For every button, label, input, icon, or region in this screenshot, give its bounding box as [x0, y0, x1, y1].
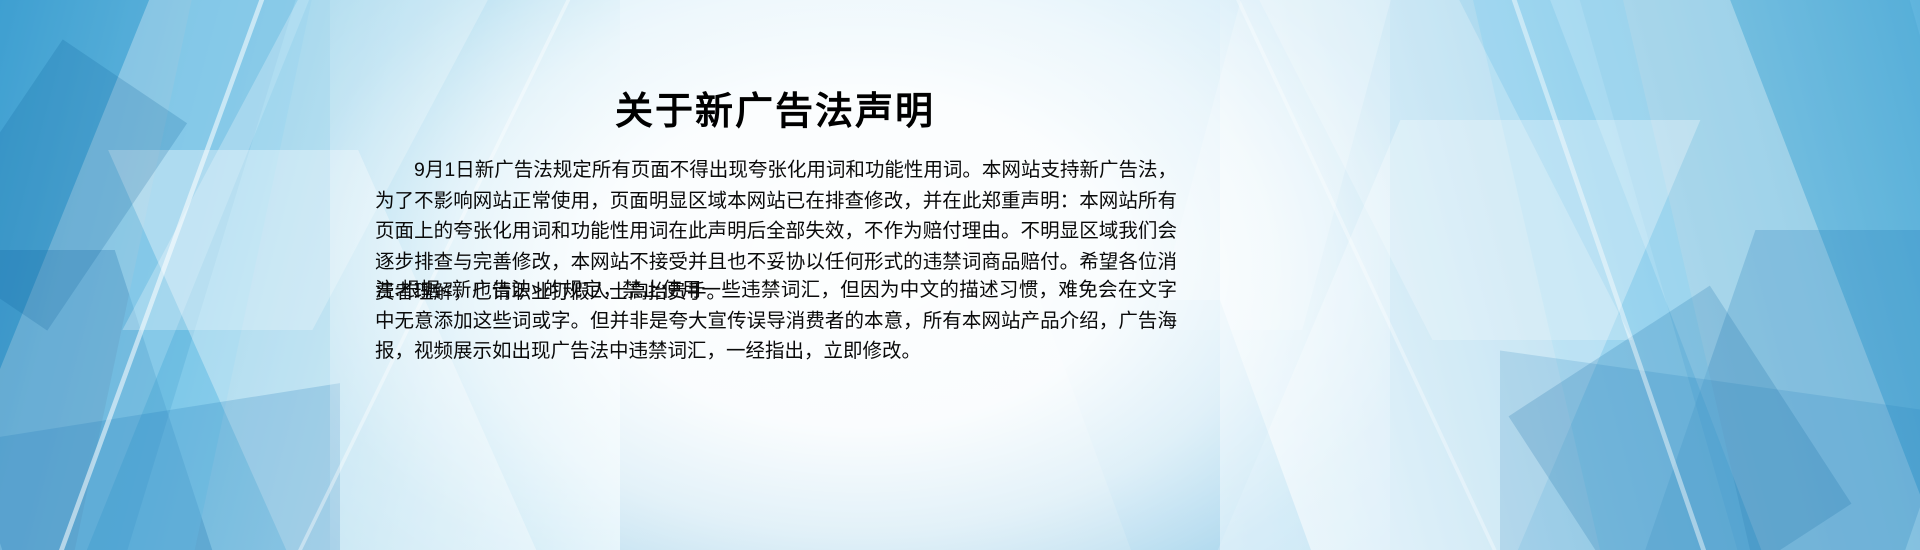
- advertising-law-statement-banner: 关于新广告法声明 9月1日新广告法规定所有页面不得出现夸张化用词和功能性用词。本…: [0, 0, 1920, 550]
- statement-paragraph-note: 注:根据<新广告法>的规定，禁止使用一些违禁词汇，但因为中文的描述习惯，难免会在…: [375, 275, 1177, 367]
- page-title: 关于新广告法声明: [375, 88, 1175, 136]
- statement-content: 关于新广告法声明 9月1日新广告法规定所有页面不得出现夸张化用词和功能性用词。本…: [0, 0, 1920, 550]
